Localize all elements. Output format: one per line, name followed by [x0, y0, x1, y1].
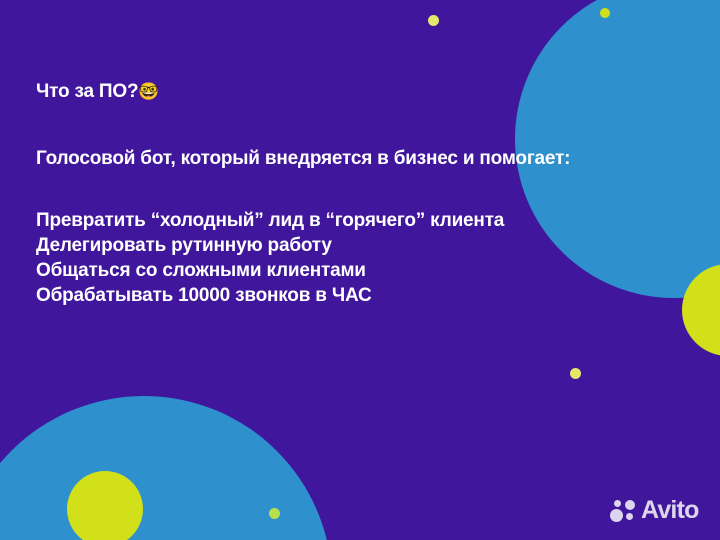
decorative-circle-blue-bottom-left — [0, 396, 332, 540]
slide-content: Что за ПО?🤓 Голосовой бот, который внедр… — [36, 80, 636, 308]
list-item: Превратить “холодный” лид в “горячего” к… — [36, 208, 636, 233]
decorative-circle-lime-bottom-left — [67, 471, 143, 540]
benefits-list: Превратить “холодный” лид в “горячего” к… — [36, 171, 636, 308]
avito-wordmark: Avito — [641, 498, 699, 523]
list-item: Обрабатывать 10000 звонков в ЧАС — [36, 283, 636, 308]
avito-watermark: Avito — [610, 498, 699, 523]
nerd-face-emoji-icon: 🤓 — [138, 82, 159, 101]
slide-heading: Что за ПО?🤓 — [36, 80, 636, 104]
decorative-dot-lime-top-right — [600, 8, 610, 18]
list-item: Делегировать рутинную работу — [36, 233, 636, 258]
decorative-dot-pale-top — [428, 15, 439, 26]
decorative-dot-lime-bottom-left — [269, 508, 280, 519]
decorative-circle-lime-right — [682, 264, 720, 356]
avito-dots-icon — [610, 499, 636, 523]
slide-heading-text: Что за ПО? — [36, 81, 138, 102]
slide-lede: Голосовой бот, который внедряется в бизн… — [36, 104, 636, 171]
promo-slide: Что за ПО?🤓 Голосовой бот, который внедр… — [0, 0, 720, 540]
decorative-dot-pale-middle-right — [570, 368, 581, 379]
list-item: Общаться со сложными клиентами — [36, 258, 636, 283]
